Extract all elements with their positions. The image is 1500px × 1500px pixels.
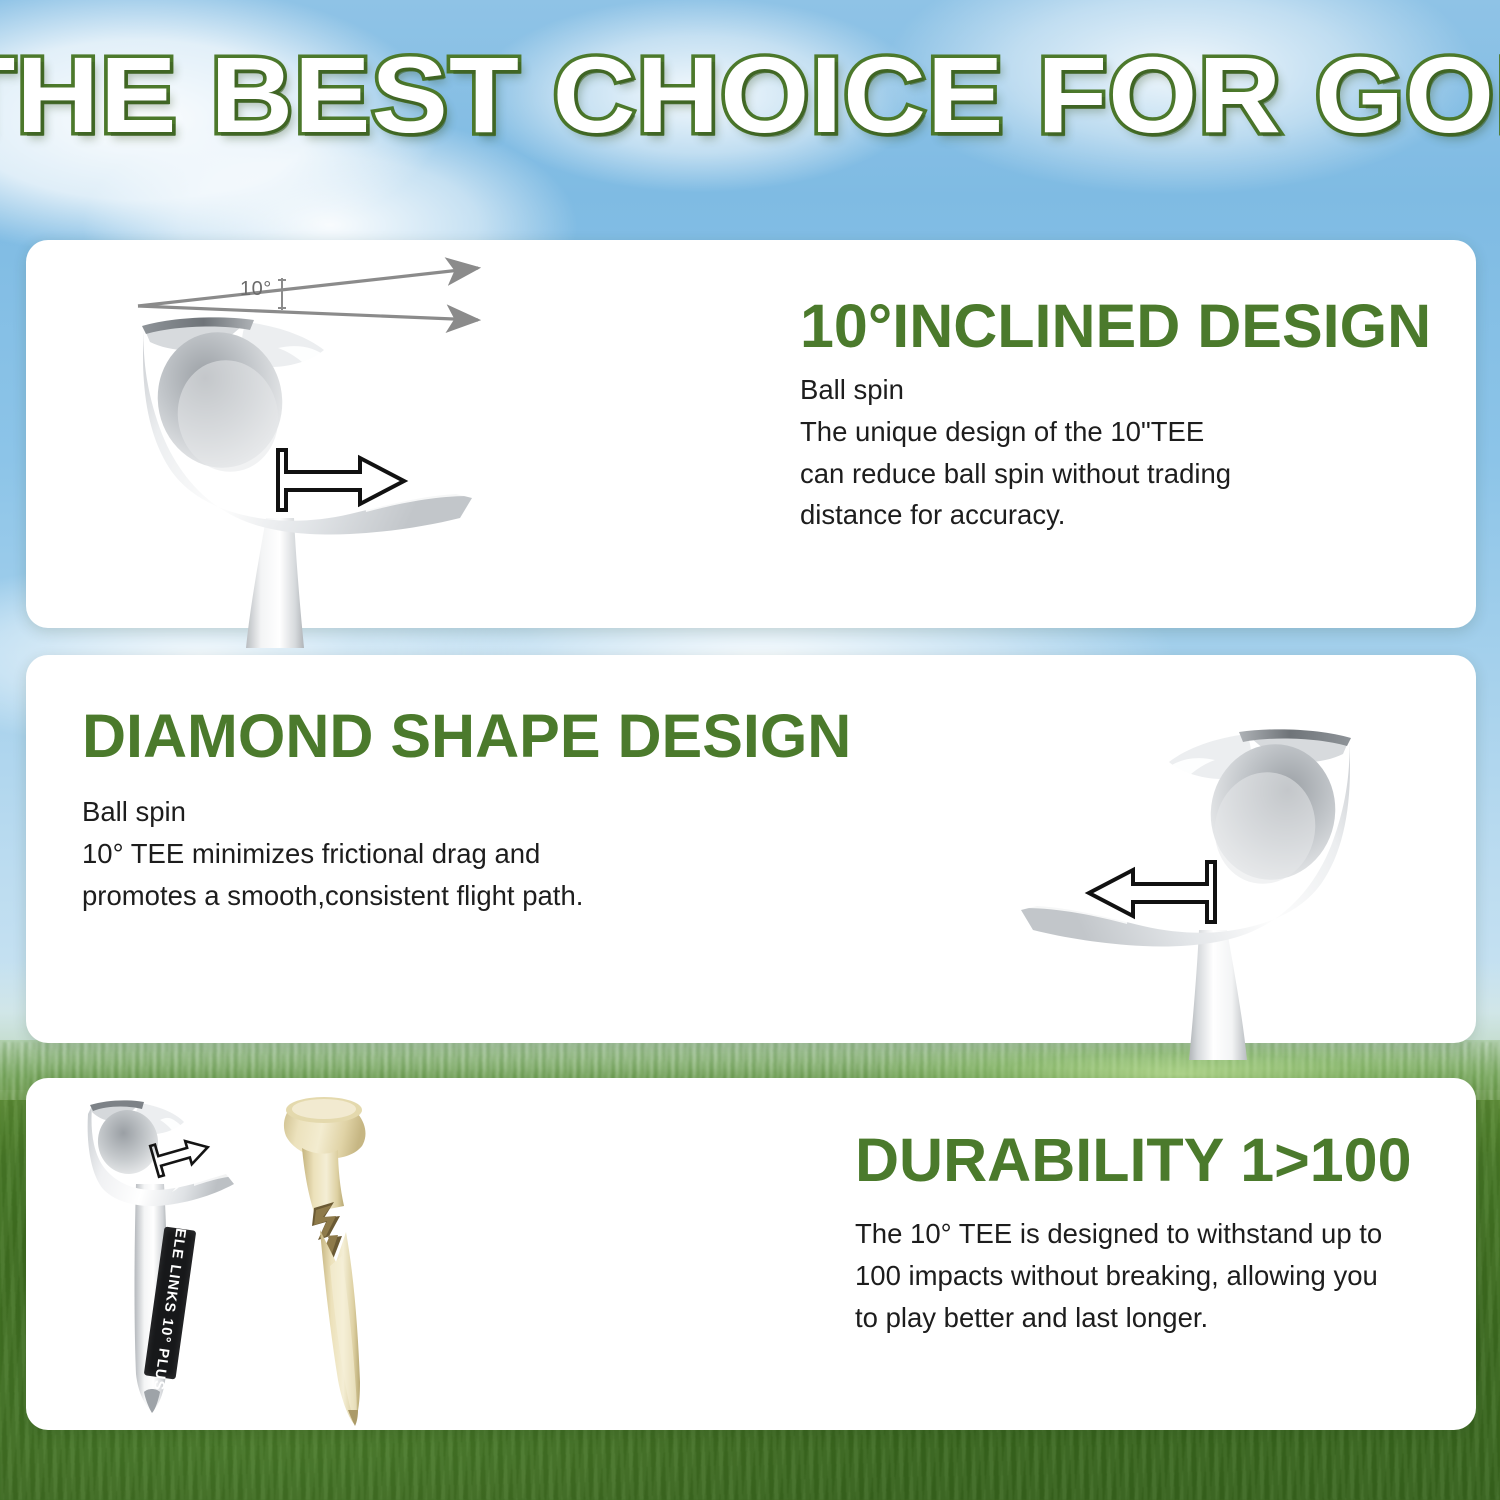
panel-3-body: The 10° TEE is designed to withstand up … [855, 1213, 1412, 1338]
panel-1-heading: 10°INCLINED DESIGN [800, 296, 1431, 357]
panel-2-heading: DIAMOND SHAPE DESIGN [82, 706, 851, 767]
text-block-durability: DURABILITY 1>100 The 10° TEE is designed… [855, 1130, 1412, 1338]
angle-value-label: 10° [240, 278, 272, 301]
header-banner: THE BEST CHOICE FOR GOLFERS [0, 40, 1500, 150]
page-title: THE BEST CHOICE FOR GOLFERS [0, 40, 1500, 150]
panel-1-body: Ball spin The unique design of the 10"TE… [800, 369, 1431, 536]
panel-2-body: Ball spin 10° TEE minimizes frictional d… [82, 791, 851, 916]
product-image-wooden-tee [268, 1090, 438, 1430]
text-block-diamond-shape: DIAMOND SHAPE DESIGN Ball spin 10° TEE m… [82, 706, 851, 916]
angle-diagram [118, 248, 538, 358]
product-image-tee-left [985, 700, 1365, 1060]
panel-3-heading: DURABILITY 1>100 [855, 1130, 1412, 1191]
text-block-inclined-design: 10°INCLINED DESIGN Ball spin The unique … [800, 296, 1431, 536]
